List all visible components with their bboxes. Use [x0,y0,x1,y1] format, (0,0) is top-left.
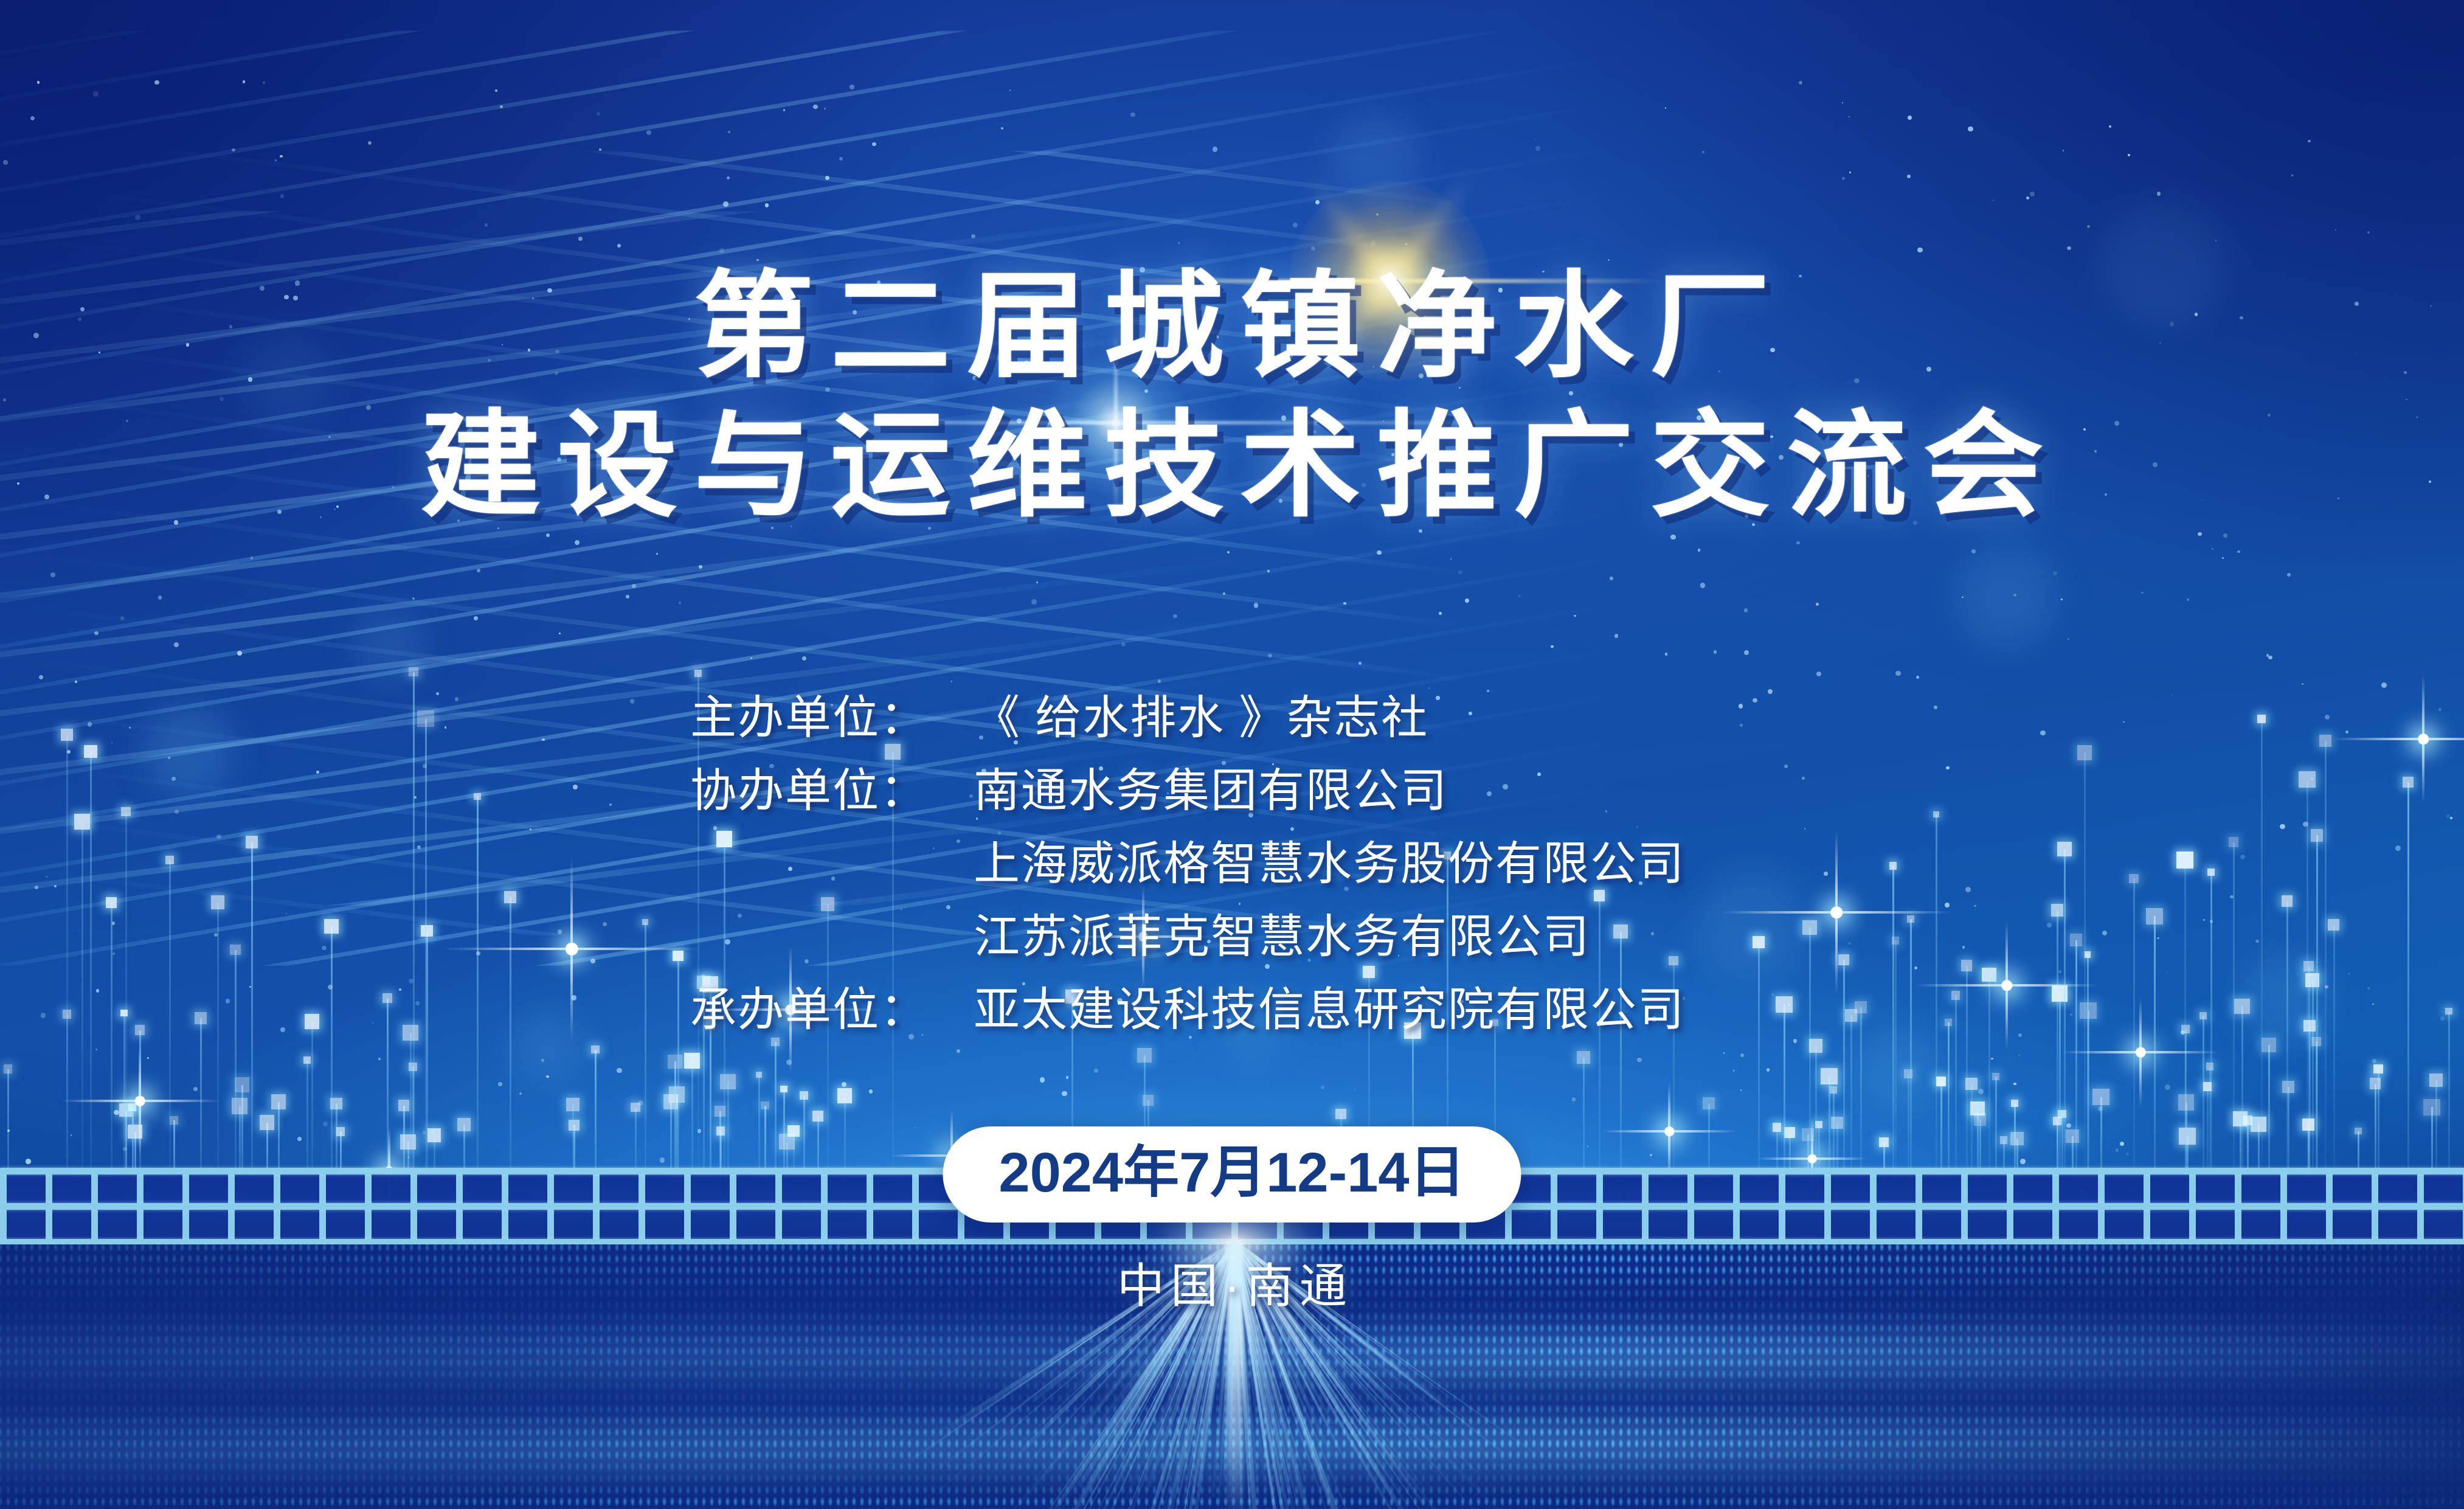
poster-title-line-2: 建设与运维技术推广交流会 [0,401,2464,532]
organizer-label: 承办单位： [690,972,974,1039]
organizer-value: 江苏派菲克智慧水务有限公司 [974,899,1590,966]
organizer-row: 主办单位： 《 给水排水 》杂志社 [690,680,1685,753]
organizer-row: 江苏派菲克智慧水务有限公司 [690,899,1685,972]
event-location-text: 中国·南通 [1111,1248,1353,1316]
organizer-row: 承办单位： 亚太建设科技信息研究院有限公司 [690,972,1685,1045]
organizer-row: 上海威派格智慧水务股份有限公司 [690,826,1685,899]
event-date-badge: 2024年7月12-14日 [943,1126,1521,1223]
organizer-label: 主办单位： [690,680,974,747]
poster-title-line-1: 第二届城镇净水厂 [0,262,2464,392]
organizer-value: 亚太建设科技信息研究院有限公司 [974,972,1685,1039]
organizer-list: 主办单位： 《 给水排水 》杂志社 协办单位： 南通水务集团有限公司 上海威派格… [690,680,1685,1045]
organizer-value: 《 给水排水 》杂志社 [974,680,1428,747]
conference-poster: 第二届城镇净水厂 建设与运维技术推广交流会 主办单位： 《 给水排水 》杂志社 … [0,0,2464,1509]
event-date-text: 2024年7月12-14日 [998,1139,1465,1207]
organizer-label: 协办单位： [690,753,974,820]
organizer-value: 南通水务集团有限公司 [974,753,1448,820]
poster-title-block: 第二届城镇净水厂 建设与运维技术推广交流会 [0,262,2464,532]
organizer-row: 协办单位： 南通水务集团有限公司 [690,753,1685,826]
organizer-value: 上海威派格智慧水务股份有限公司 [974,826,1685,893]
